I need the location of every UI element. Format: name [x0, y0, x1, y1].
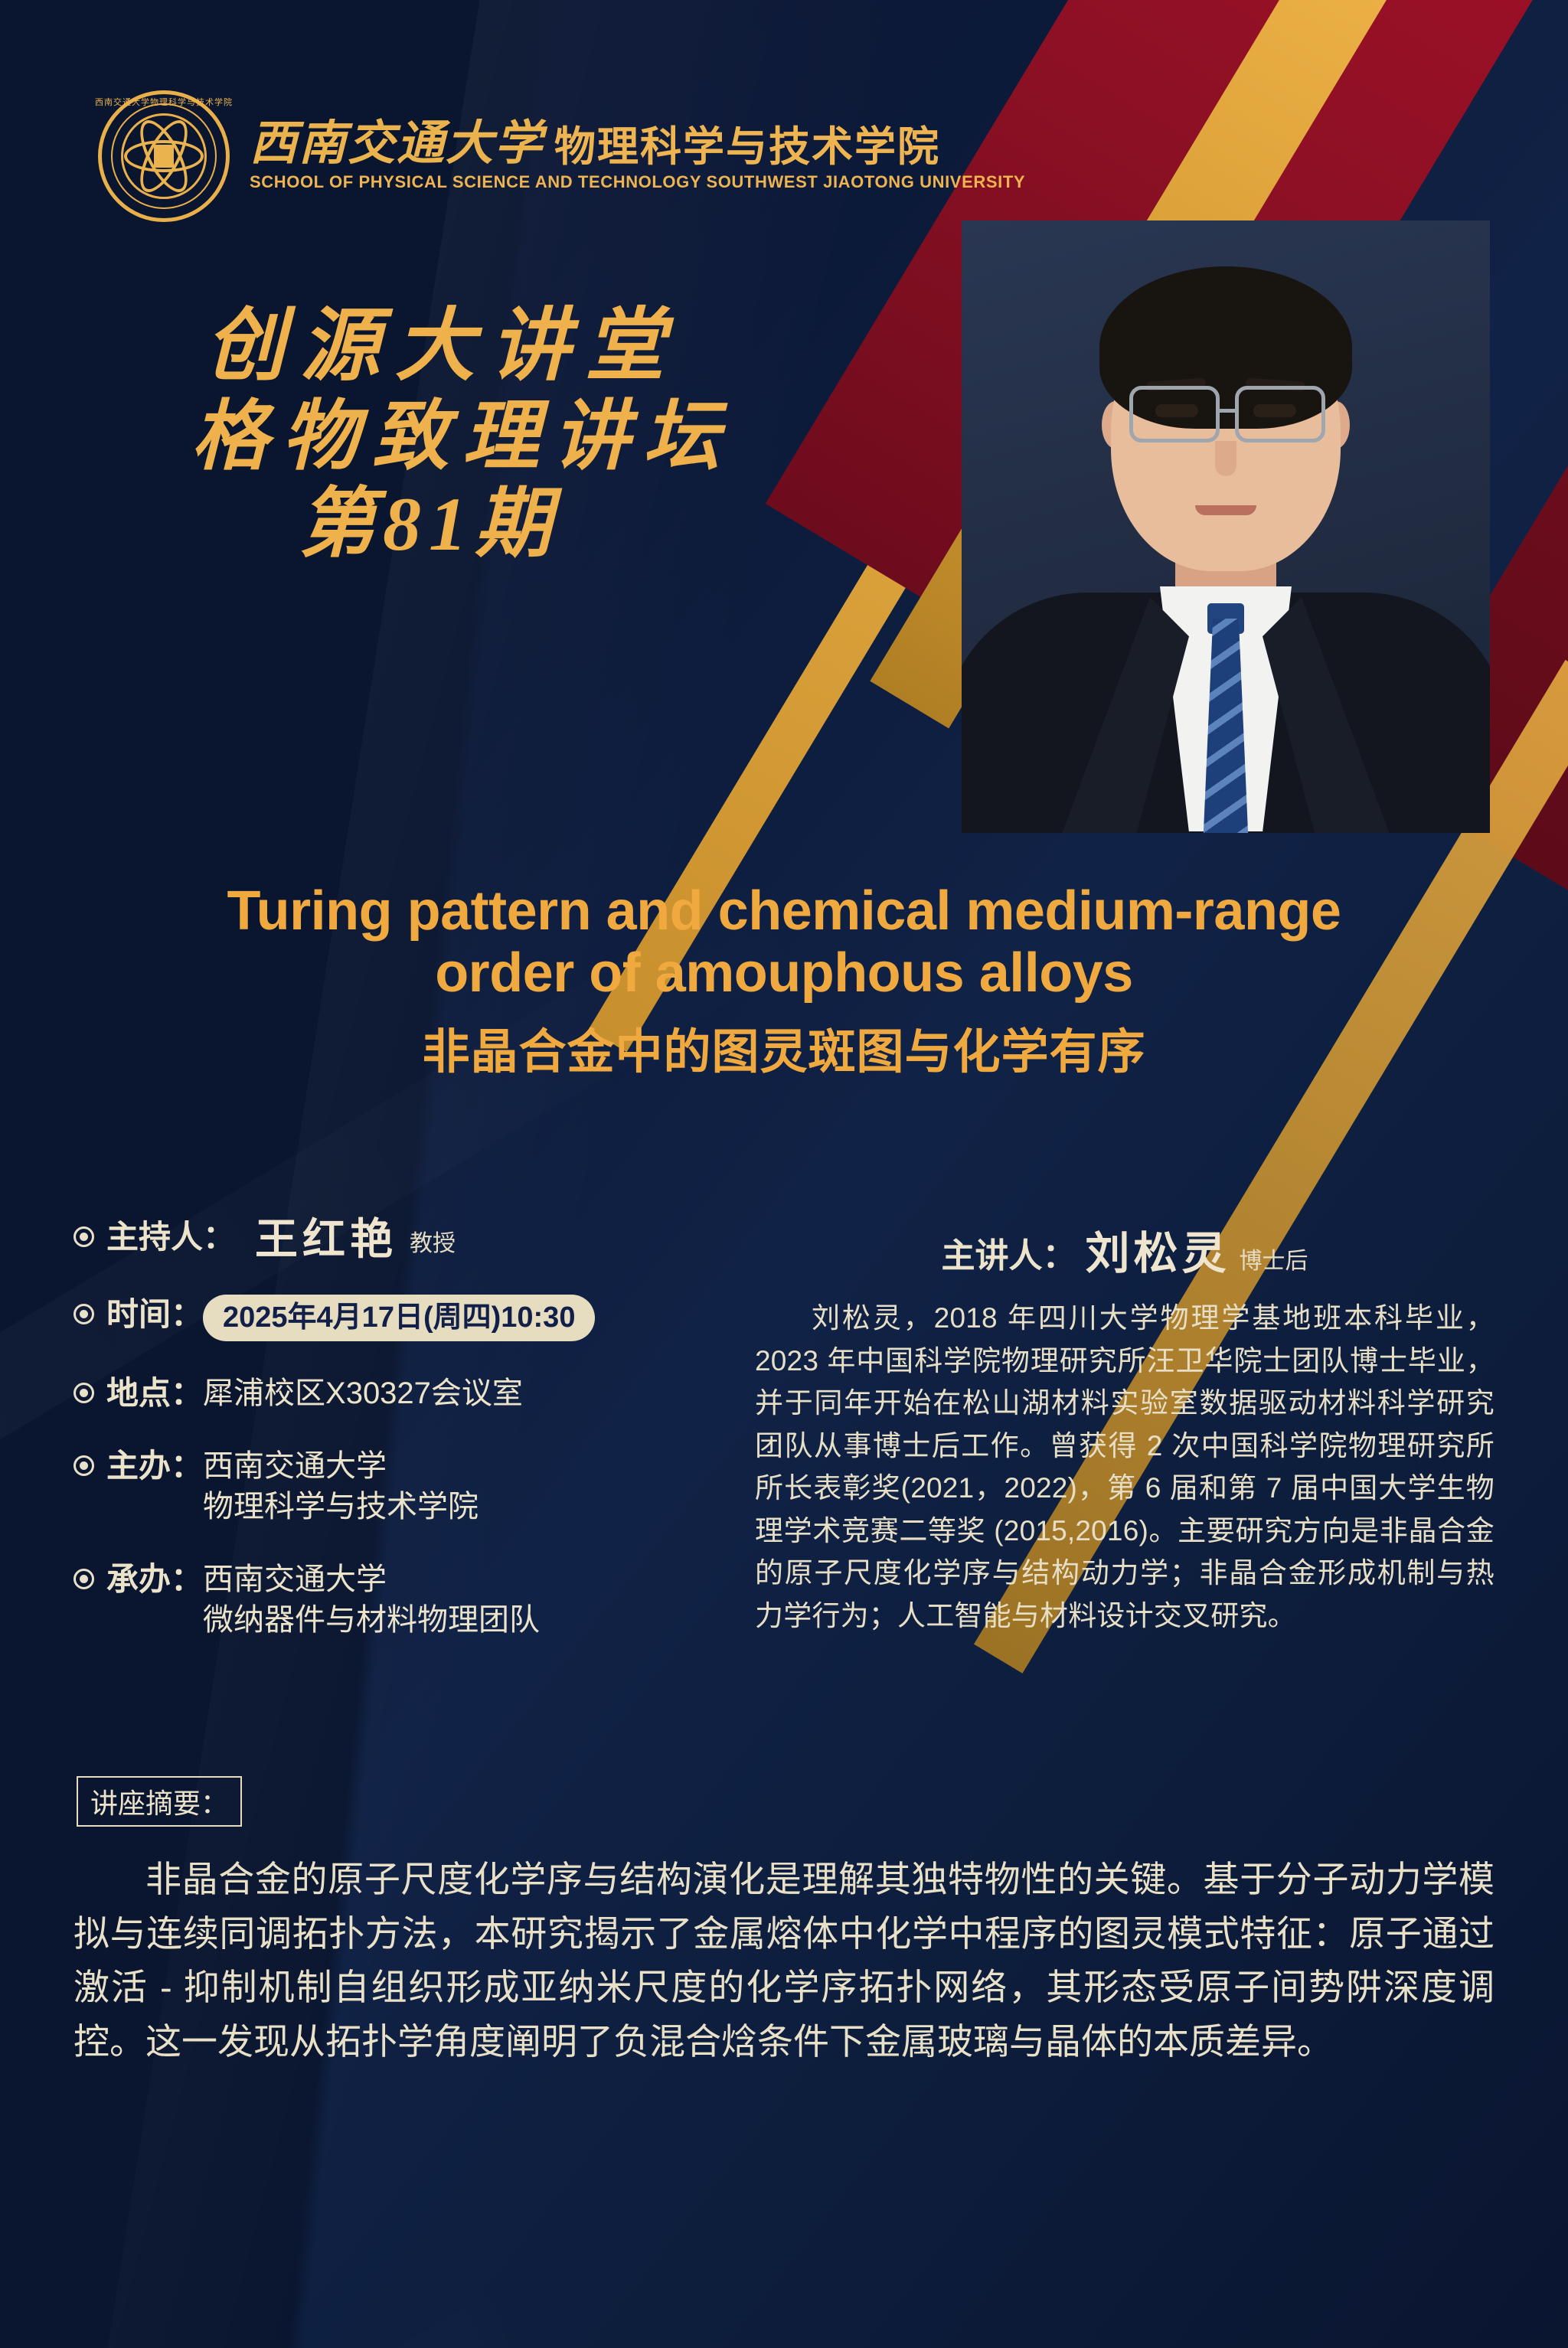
- university-name-cn: 西南交通大学: [250, 120, 544, 168]
- co-organizer-label: 承办：: [106, 1559, 203, 1600]
- series-title-line-2: 格物致理讲坛: [191, 398, 880, 476]
- co-organizer-value: 西南交通大学 微纳器件与材料物理团队: [203, 1559, 540, 1641]
- logo-text-block: 西南交通大学 物理科学与技术学院 SCHOOL OF PHYSICAL SCIE…: [250, 120, 1025, 192]
- co-organizer-row: 承办： 西南交通大学 微纳器件与材料物理团队: [73, 1559, 732, 1641]
- target-bullet-icon: [73, 1304, 94, 1324]
- abstract-label: 讲座摘要：: [77, 1776, 242, 1827]
- event-details-column: 主持人： 王红艳 教授 时间： 2025年4月17日(周四)10:30 地点： …: [73, 1217, 732, 1672]
- organizer-label: 主办：: [106, 1446, 203, 1487]
- co-organizer-line-1: 西南交通大学: [203, 1559, 540, 1600]
- host-name: 王红艳: [255, 1217, 397, 1262]
- speaker-biography: 刘松灵，2018 年四川大学物理学基地班本科毕业，2023 年中国科学院物理研究…: [755, 1297, 1494, 1637]
- speaker-label: 主讲人：: [941, 1228, 1076, 1282]
- atom-nucleus: [154, 145, 174, 168]
- place-label: 地点：: [106, 1373, 203, 1414]
- info-columns: 主持人： 王红艳 教授 时间： 2025年4月17日(周四)10:30 地点： …: [0, 1217, 1568, 1672]
- glasses-bridge: [1218, 409, 1236, 413]
- series-title-line-1: 创源大讲堂: [205, 306, 880, 387]
- place-row: 地点： 犀浦校区X30327会议室: [73, 1373, 732, 1414]
- lecture-series-title: 创源大讲堂 格物致理讲坛 第81期: [191, 306, 880, 563]
- glasses-lens-left: [1129, 386, 1220, 442]
- poster-root: 西南交通大学物理科学与技术学院 西南交通大学 物理科学与技术学院 SCHOOL …: [0, 0, 1568, 2348]
- talk-title-en-line1: Turing pattern and chemical medium-range: [54, 880, 1514, 942]
- host-label: 主持人：: [106, 1217, 235, 1258]
- portrait-mouth: [1195, 505, 1256, 515]
- atom-icon: [124, 116, 204, 196]
- school-name-cn: 物理科学与技术学院: [554, 126, 940, 168]
- talk-title-block: Turing pattern and chemical medium-range…: [0, 880, 1568, 1082]
- time-value-badge: 2025年4月17日(周四)10:30: [203, 1295, 595, 1342]
- host-row: 主持人： 王红艳 教授: [73, 1217, 732, 1262]
- speaker-heading: 主讲人： 刘松灵 博士后: [755, 1217, 1494, 1282]
- organizer-row: 主办： 西南交通大学 物理科学与技术学院: [73, 1446, 732, 1527]
- seal-ring-text-cn: 西南交通大学物理科学与技术学院: [95, 96, 233, 108]
- time-label: 时间：: [106, 1295, 203, 1335]
- target-bullet-icon: [73, 1226, 94, 1247]
- target-bullet-icon: [73, 1455, 94, 1476]
- portrait-nose: [1215, 441, 1236, 476]
- co-organizer-line-2: 微纳器件与材料物理团队: [203, 1600, 540, 1641]
- organizer-line-2: 物理科学与技术学院: [203, 1487, 479, 1527]
- target-bullet-icon: [73, 1569, 94, 1589]
- speaker-name: 刘松灵: [1085, 1217, 1230, 1282]
- host-rank: 教授: [410, 1224, 456, 1262]
- speaker-column: 主讲人： 刘松灵 博士后 刘松灵，2018 年四川大学物理学基地班本科毕业，20…: [732, 1217, 1494, 1672]
- organizer-line-1: 西南交通大学: [203, 1446, 479, 1487]
- logo-text-en: SCHOOL OF PHYSICAL SCIENCE AND TECHNOLOG…: [250, 172, 1025, 192]
- place-value: 犀浦校区X30327会议室: [203, 1373, 523, 1414]
- speaker-portrait: [962, 220, 1490, 833]
- time-row: 时间： 2025年4月17日(周四)10:30: [73, 1295, 732, 1342]
- glasses-lens-right: [1235, 386, 1325, 442]
- university-seal-icon: 西南交通大学物理科学与技术学院: [98, 90, 230, 222]
- abstract-body: 非晶合金的原子尺度化学序与结构演化是理解其独特物性的关键。基于分子动力学模拟与连…: [73, 1853, 1494, 2069]
- university-logo-header: 西南交通大学物理科学与技术学院 西南交通大学 物理科学与技术学院 SCHOOL …: [98, 90, 1025, 222]
- talk-title-en-line2: order of amouphous alloys: [54, 942, 1514, 1004]
- speaker-rank: 博士后: [1240, 1242, 1308, 1282]
- series-title-line-3: 第81期: [299, 485, 880, 563]
- organizer-value: 西南交通大学 物理科学与技术学院: [203, 1446, 479, 1527]
- target-bullet-icon: [73, 1383, 94, 1403]
- talk-title-cn: 非晶合金中的图灵斑图与化学有序: [54, 1013, 1514, 1082]
